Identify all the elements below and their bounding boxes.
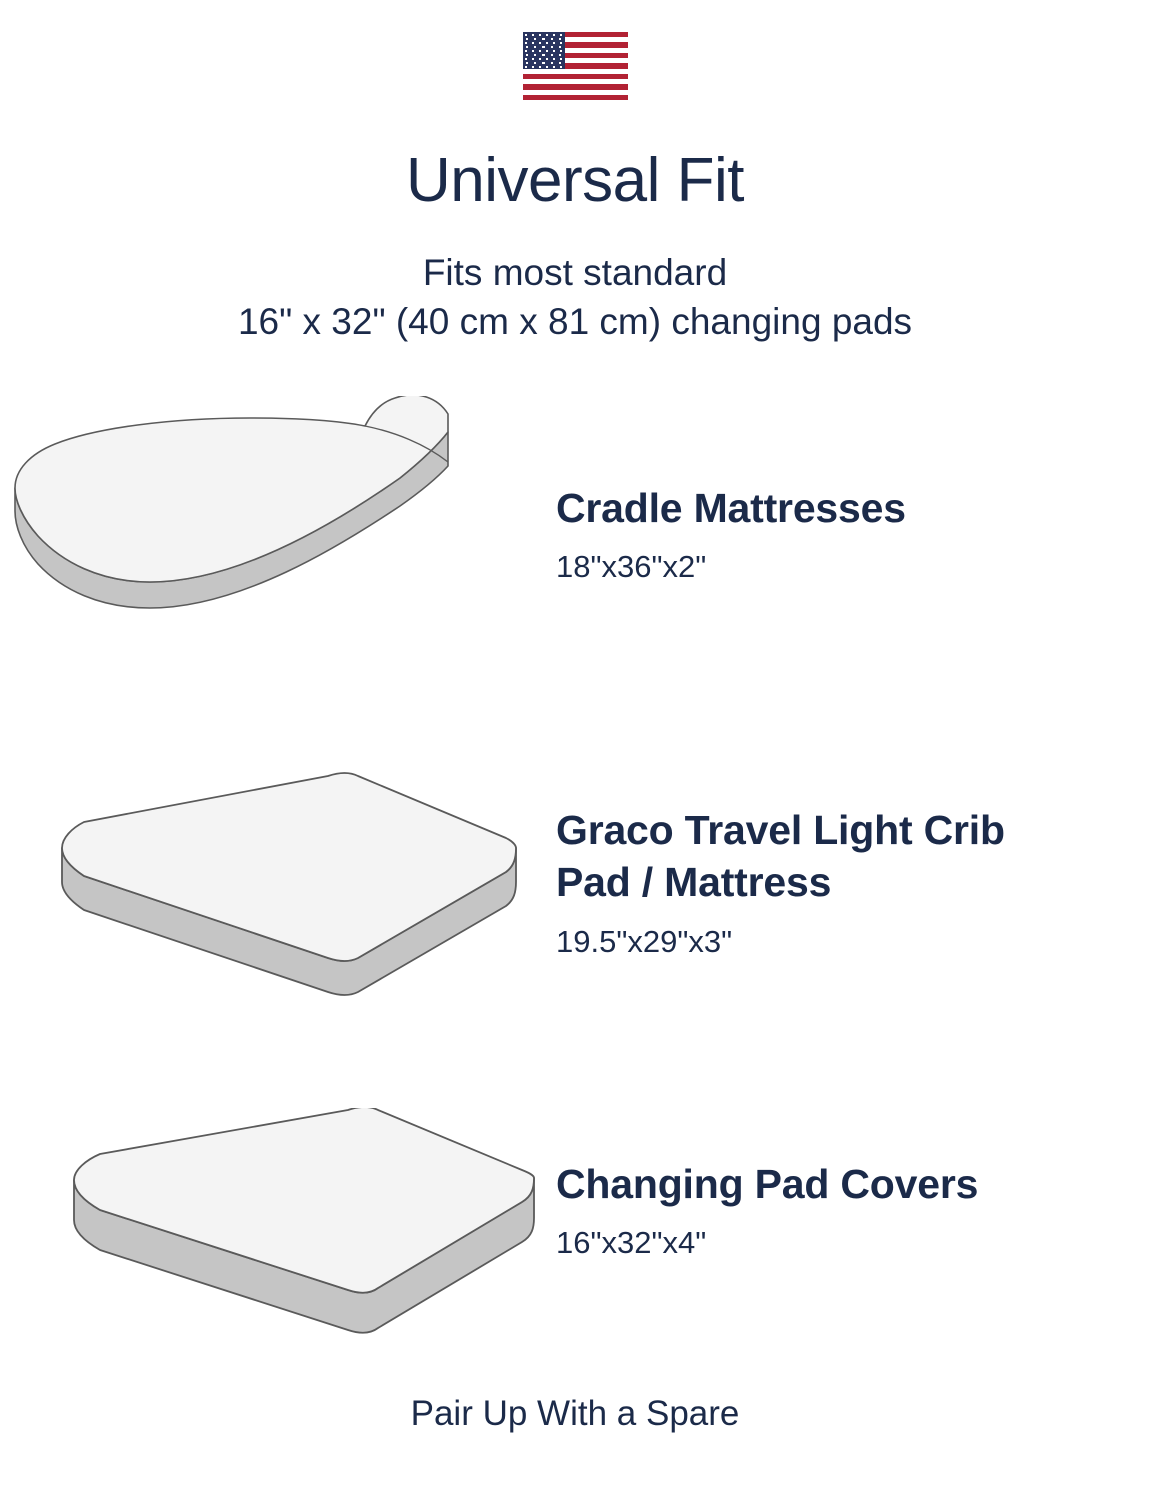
product-dimensions: 18"x36"x2" bbox=[556, 547, 1116, 587]
page-subtitle: Fits most standard 16" x 32" (40 cm x 81… bbox=[0, 248, 1150, 346]
subtitle-line-1: Fits most standard bbox=[0, 248, 1150, 297]
flag-container bbox=[0, 32, 1150, 105]
product-text-changing-pad-covers: Changing Pad Covers 16"x32"x4" bbox=[556, 1158, 1116, 1264]
thick-flat-mattress-illustration bbox=[48, 1108, 558, 1343]
product-text-graco-travel-light: Graco Travel Light Crib Pad / Mattress 1… bbox=[556, 804, 1116, 962]
flag-canton bbox=[523, 32, 565, 69]
footer-tagline: Pair Up With a Spare bbox=[0, 1394, 1150, 1434]
product-name: Changing Pad Covers bbox=[556, 1158, 1116, 1210]
product-dimensions: 16"x32"x4" bbox=[556, 1223, 1116, 1263]
thin-flat-mattress-illustration bbox=[28, 770, 538, 1005]
us-flag-icon bbox=[523, 32, 628, 100]
product-name-line-2: Pad / Mattress bbox=[556, 856, 1116, 908]
product-name-line-1: Graco Travel Light Crib bbox=[556, 804, 1116, 856]
product-dimensions: 19.5"x29"x3" bbox=[556, 922, 1116, 962]
product-text-cradle-mattresses: Cradle Mattresses 18"x36"x2" bbox=[556, 482, 1116, 588]
page-title: Universal Fit bbox=[0, 148, 1150, 213]
product-name: Cradle Mattresses bbox=[556, 482, 1116, 534]
subtitle-line-2: 16" x 32" (40 cm x 81 cm) changing pads bbox=[0, 297, 1150, 346]
contoured-changing-pad-illustration bbox=[0, 396, 545, 626]
